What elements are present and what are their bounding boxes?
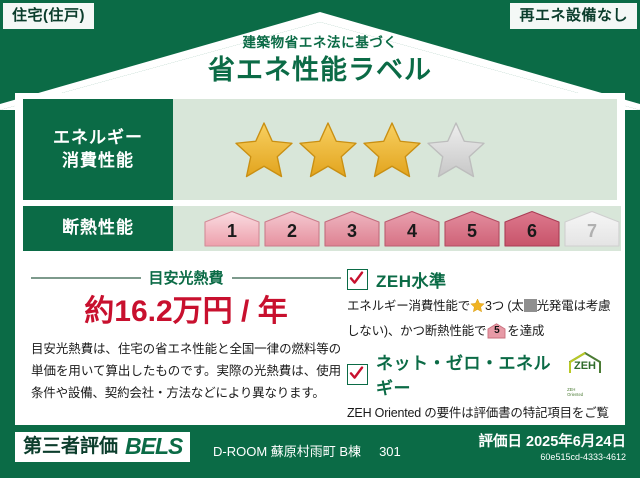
- energy-performance-value: [173, 99, 617, 200]
- zeh-standard-heading: ZEH水準: [347, 267, 615, 292]
- zeh-logo-icon: ZEH ZEHOriented: [566, 351, 615, 398]
- heading-title: 省エネ性能ラベル: [0, 57, 640, 84]
- insulation-house-filled: 3: [323, 210, 381, 248]
- housing-type-tag: 住宅(住戸): [3, 3, 94, 29]
- insulation-house-filled: 5: [443, 210, 501, 248]
- utility-cost-column: 目安光熱費 約16.2万円 / 年 目安光熱費は、住宅の省エネ性能と全国一律の燃…: [25, 265, 341, 446]
- zeh-text-part4: を達成: [507, 324, 544, 338]
- footer-bar: 第三者評価 BELS D-ROOM 蘇原村雨町 B棟301 評価日 2025年6…: [0, 425, 640, 478]
- evaluation-id: 60e515cd-4333-4612: [479, 452, 626, 464]
- property-info: D-ROOM 蘇原村雨町 B棟301: [213, 441, 401, 460]
- zeh-text-part1: エネルギー消費性能で: [347, 299, 470, 313]
- insulation-level-number: 4: [383, 222, 441, 240]
- zeh-logo-subtext: ZEHOriented: [567, 388, 583, 398]
- evaluation-info: 評価日 2025年6月24日 60e515cd-4333-4612: [479, 433, 626, 464]
- details-section: 目安光熱費 約16.2万円 / 年 目安光熱費は、住宅の省エネ性能と全国一律の燃…: [15, 257, 625, 446]
- redaction-block: [524, 299, 537, 312]
- energy-performance-row: エネルギー 消費性能: [23, 99, 617, 200]
- energy-performance-label: エネルギー 消費性能: [23, 99, 173, 200]
- energy-label-line1: エネルギー: [53, 127, 143, 150]
- insulation-level-scale: 1234567: [173, 210, 621, 248]
- bels-logo-en: BELS: [125, 435, 182, 458]
- rule-right: [232, 277, 342, 279]
- renewable-equipment-tag: 再エネ設備なし: [510, 3, 637, 29]
- utility-cost-note: 目安光熱費は、住宅の省エネ性能と全国一律の燃料等の単価を用いて算出したものです。…: [31, 339, 341, 405]
- utility-cost-value: 約16.2万円 / 年: [31, 297, 341, 327]
- utility-cost-title: 目安光熱費: [31, 267, 341, 288]
- bels-logo-jp: 第三者評価: [23, 437, 118, 456]
- label-heading: 建築物省エネ法に基づく 省エネ性能ラベル: [0, 36, 640, 84]
- insulation-house-empty: 7: [563, 210, 621, 248]
- insulation-label-text: 断熱性能: [62, 217, 134, 240]
- star-filled-icon: [297, 120, 359, 180]
- evaluation-date-value: 2025年6月24日: [526, 434, 626, 450]
- unit-number: 301: [379, 444, 401, 459]
- heading-subtitle: 建築物省エネ法に基づく: [0, 36, 640, 50]
- bels-logo: 第三者評価 BELS: [15, 432, 190, 462]
- insulation-level-badge-number: 5: [487, 326, 506, 336]
- zeh-netzero-title: ネット・ゼロ・エネルギー: [376, 349, 556, 399]
- rule-left: [31, 277, 141, 279]
- evaluation-date-label: 評価日: [479, 434, 523, 450]
- star-empty-icon: [425, 120, 487, 180]
- insulation-level-number: 7: [563, 222, 621, 240]
- star-filled-icon: [361, 120, 423, 180]
- energy-label-line2: 消費性能: [62, 150, 134, 173]
- energy-label-card: 住宅(住戸) 再エネ設備なし 建築物省エネ法に基づく 省エネ性能ラベル エネルギ…: [0, 0, 640, 478]
- zeh-netzero-heading: ネット・ゼロ・エネルギー ZEH ZEHOriented: [347, 349, 615, 399]
- zeh-text-part2: 3つ (太: [485, 299, 524, 313]
- insulation-level-number: 1: [203, 222, 261, 240]
- insulation-level-number: 3: [323, 222, 381, 240]
- insulation-house-filled: 1: [203, 210, 261, 248]
- evaluation-date: 評価日 2025年6月24日: [479, 433, 626, 451]
- insulation-level-number: 2: [263, 222, 321, 240]
- insulation-house-filled: 4: [383, 210, 441, 248]
- property-name: D-ROOM 蘇原村雨町 B棟: [213, 444, 361, 459]
- zeh-standard-text: エネルギー消費性能で3つ (太光発電は考慮しない)、かつ断熱性能で5を達成: [347, 296, 615, 342]
- main-panel: エネルギー 消費性能 断熱性能 1234567: [15, 93, 625, 425]
- zeh-standard-title: ZEH水準: [376, 267, 447, 292]
- insulation-performance-value: 1234567: [173, 206, 621, 251]
- checkmark-icon: [347, 269, 368, 290]
- star-filled-icon: [233, 120, 295, 180]
- checkmark-icon-2: [347, 364, 368, 385]
- ratings-section: エネルギー 消費性能 断熱性能 1234567: [15, 93, 625, 251]
- utility-cost-title-text: 目安光熱費: [149, 267, 224, 288]
- inline-star-icon: [470, 298, 485, 321]
- zeh-column: ZEH水準 エネルギー消費性能で3つ (太光発電は考慮しない)、かつ断熱性能で5…: [341, 265, 615, 446]
- insulation-level-number: 5: [443, 222, 501, 240]
- insulation-performance-label: 断熱性能: [23, 206, 173, 251]
- star-rating: [173, 120, 487, 180]
- insulation-level-number: 6: [503, 222, 561, 240]
- insulation-level-badge: 5: [487, 323, 506, 339]
- insulation-house-filled: 2: [263, 210, 321, 248]
- svg-text:ZEH: ZEH: [574, 360, 596, 372]
- insulation-performance-row: 断熱性能 1234567: [23, 206, 617, 251]
- insulation-house-filled: 6: [503, 210, 561, 248]
